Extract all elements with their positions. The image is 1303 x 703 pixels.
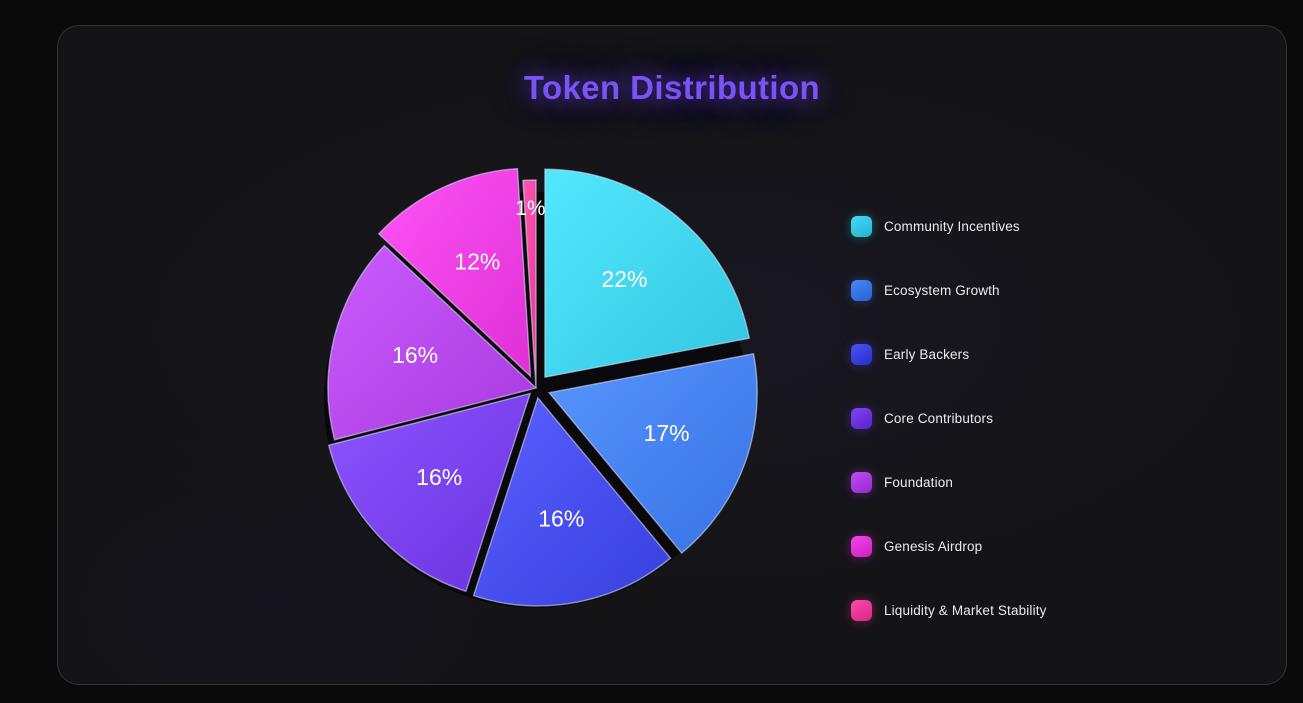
legend-item-label: Genesis Airdrop xyxy=(884,539,982,554)
pie-chart-svg: 22%17%16%16%16%12%1% xyxy=(263,121,823,666)
legend-item-label: Core Contributors xyxy=(884,411,993,426)
legend-item-label: Liquidity & Market Stability xyxy=(884,603,1047,618)
legend-item-label: Ecosystem Growth xyxy=(884,283,1000,298)
pie-slice-group xyxy=(324,169,757,608)
chart-legend: Community IncentivesEcosystem GrowthEarl… xyxy=(851,194,1151,642)
legend-item[interactable]: Foundation xyxy=(851,450,1151,514)
legend-item[interactable]: Ecosystem Growth xyxy=(851,258,1151,322)
legend-item-label: Early Backers xyxy=(884,347,969,362)
legend-color-swatch xyxy=(851,344,872,365)
legend-item-label: Foundation xyxy=(884,475,953,490)
pie-chart: 22%17%16%16%16%12%1% xyxy=(263,121,823,666)
pie-slice-value-label: 16% xyxy=(392,342,438,368)
legend-item[interactable]: Liquidity & Market Stability xyxy=(851,578,1151,642)
pie-slice-value-label: 1% xyxy=(515,197,545,220)
legend-item[interactable]: Early Backers xyxy=(851,322,1151,386)
legend-color-swatch xyxy=(851,216,872,237)
legend-color-swatch xyxy=(851,600,872,621)
legend-color-swatch xyxy=(851,536,872,557)
legend-item-label: Community Incentives xyxy=(884,219,1020,234)
legend-color-swatch xyxy=(851,472,872,493)
page-title: Token Distribution xyxy=(58,69,1286,107)
pie-slice-value-label: 16% xyxy=(538,505,584,531)
legend-color-swatch xyxy=(851,408,872,429)
legend-item[interactable]: Genesis Airdrop xyxy=(851,514,1151,578)
token-distribution-card: Token Distribution 22%17%16%16%16%12%1% … xyxy=(57,25,1287,685)
legend-item[interactable]: Core Contributors xyxy=(851,386,1151,450)
screen-root: Token Distribution 22%17%16%16%16%12%1% … xyxy=(0,0,1303,703)
legend-item[interactable]: Community Incentives xyxy=(851,194,1151,258)
pie-slice-value-label: 12% xyxy=(454,248,500,274)
legend-color-swatch xyxy=(851,280,872,301)
pie-slice-value-label: 17% xyxy=(644,420,690,446)
pie-slice-value-label: 16% xyxy=(416,464,462,490)
pie-slice-value-label: 22% xyxy=(601,266,647,292)
